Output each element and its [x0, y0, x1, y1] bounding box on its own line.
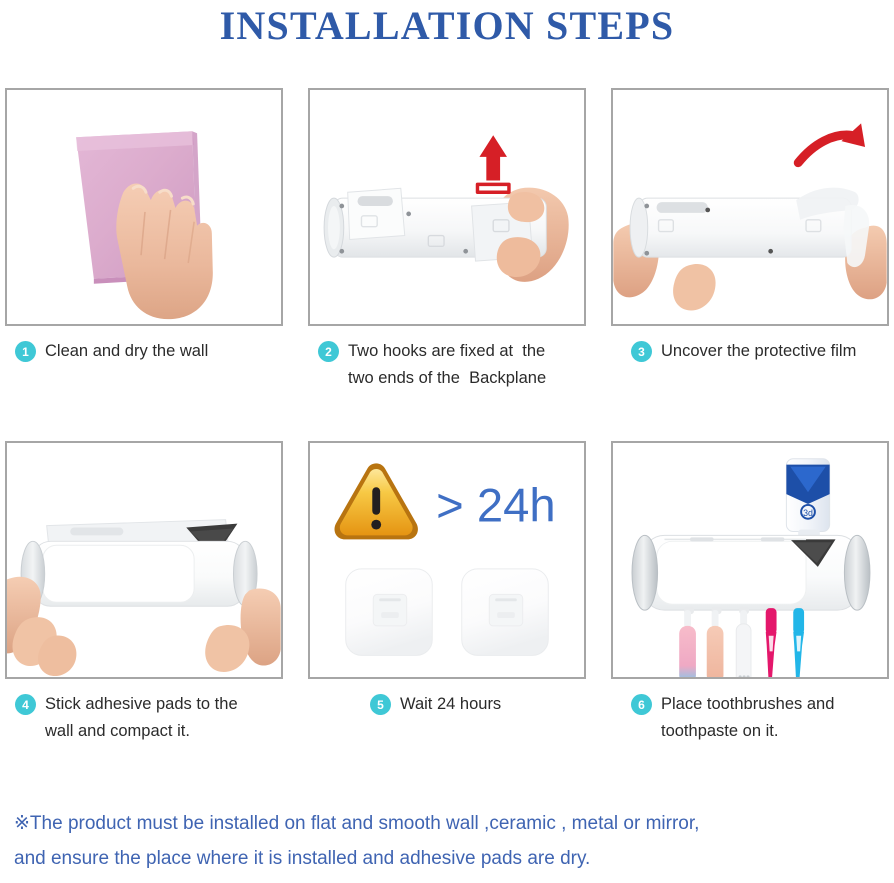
mounted-holder-with-toothbrushes-art: 3d [613, 443, 887, 677]
step-badge-2: 2 [318, 341, 339, 362]
step-label-1: Clean and dry the wall [45, 338, 208, 365]
toothbrush-2 [707, 611, 724, 678]
step-image-5: > 24h [308, 441, 586, 679]
step-card-3: 3 Uncover the protective film [611, 88, 889, 391]
footnote-line-1: The product must be installed on flat an… [30, 813, 700, 834]
step-image-4 [5, 441, 283, 679]
warning-24h-adhesive-pads-art: > 24h [310, 443, 584, 677]
peeling-protective-film-art [613, 90, 887, 324]
page-title: INSTALLATION STEPS [0, 2, 894, 49]
step-caption-1: 1 Clean and dry the wall [5, 338, 283, 365]
step-label-4: Stick adhesive pads to the wall and comp… [45, 691, 238, 744]
toothbrush-4 [766, 609, 777, 678]
svg-text:3d: 3d [803, 508, 813, 518]
step-label-5: Wait 24 hours [400, 691, 501, 718]
step-card-5: > 24h [308, 441, 586, 744]
step-caption-4: 4 Stick adhesive pads to the wall and co… [5, 691, 283, 744]
toothbrush-3 [736, 611, 751, 678]
step-badge-1: 1 [15, 341, 36, 362]
steps-row-2: 4 Stick adhesive pads to the wall and co… [5, 441, 889, 744]
toothbrush-1 [679, 611, 696, 678]
peel-arrow-icon [798, 123, 865, 162]
step-badge-6: 6 [631, 694, 652, 715]
step-caption-3: 3 Uncover the protective film [611, 338, 889, 365]
step-badge-4: 4 [15, 694, 36, 715]
step-card-4: 4 Stick adhesive pads to the wall and co… [5, 441, 283, 744]
step-badge-5: 5 [370, 694, 391, 715]
step-card-2: 2 Two hooks are fixed at the two ends of… [308, 88, 586, 391]
step-label-3: Uncover the protective film [661, 338, 856, 365]
step-image-1 [5, 88, 283, 326]
step-label-6: Place toothbrushes and toothpaste on it. [661, 691, 834, 744]
installation-steps-infographic: INSTALLATION STEPS [0, 0, 894, 883]
steps-grid: 1 Clean and dry the wall [5, 88, 889, 745]
step-card-1: 1 Clean and dry the wall [5, 88, 283, 391]
toothpaste-tube: 3d [786, 459, 829, 540]
pressing-device-to-wall-art [7, 443, 281, 677]
toothbrush-5 [793, 609, 804, 678]
step-card-6: 3d [611, 441, 889, 744]
step-image-2 [308, 88, 586, 326]
adhesive-pad-left [346, 569, 433, 656]
footnote-marker-icon: ※ [14, 813, 30, 834]
step-caption-5: 5 Wait 24 hours [308, 691, 586, 718]
up-arrow-icon [477, 135, 508, 192]
warning-triangle-icon [335, 464, 418, 540]
step-caption-2: 2 Two hooks are fixed at the two ends of… [308, 338, 586, 391]
hand-wiping-with-pink-cloth-art [7, 90, 281, 324]
backplane-hook-up-arrow-art [310, 90, 584, 324]
adhesive-pad-right [462, 569, 549, 656]
steps-row-1: 1 Clean and dry the wall [5, 88, 889, 391]
wait-time-text: > 24h [436, 480, 555, 533]
step-label-2: Two hooks are fixed at the two ends of t… [348, 338, 546, 391]
step-image-3 [611, 88, 889, 326]
footnote-line-2: and ensure the place where it is install… [14, 848, 590, 869]
footnote: ※The product must be installed on flat a… [14, 806, 890, 876]
step-caption-6: 6 Place toothbrushes and toothpaste on i… [611, 691, 889, 744]
step-badge-3: 3 [631, 341, 652, 362]
step-image-6: 3d [611, 441, 889, 679]
